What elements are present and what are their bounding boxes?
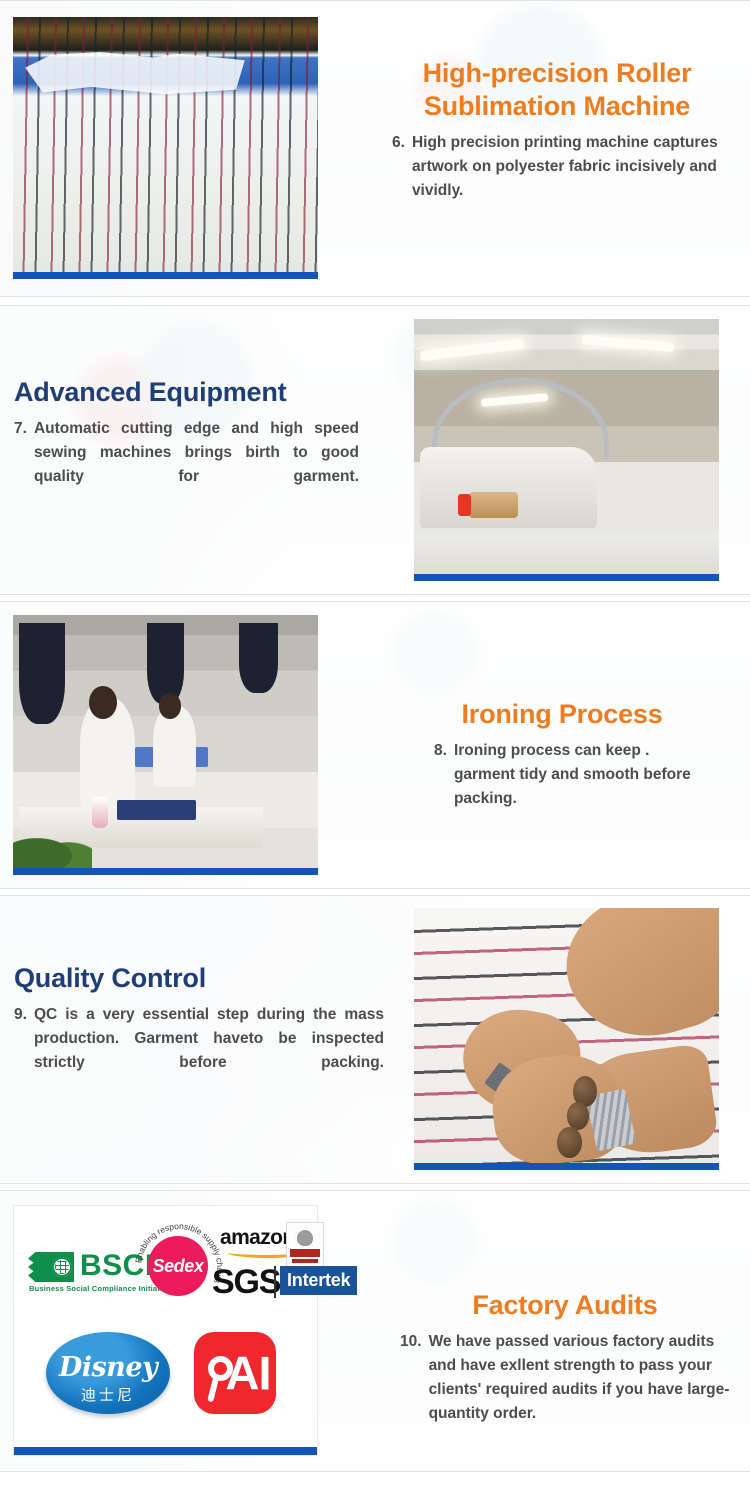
- photo-frame: [13, 615, 318, 868]
- photo-frame: [414, 908, 719, 1163]
- text-block-roller-sublimation: High-precision Roller Sublimation Machin…: [392, 57, 722, 203]
- section-title: Advanced Equipment: [14, 376, 359, 409]
- photo-hanging-garment: [239, 623, 279, 694]
- logoboard-blue-rule: [14, 1447, 317, 1455]
- globe-icon: [52, 1257, 72, 1277]
- page-root: High-precision Roller Sublimation Machin…: [0, 0, 750, 1489]
- photo-ironing-floor: [13, 615, 318, 875]
- sedex-circle: Sedex: [148, 1236, 208, 1296]
- photo-frame: [414, 319, 719, 574]
- text-block-ironing-process: Ironing Process 8. Ironing process can k…: [412, 698, 712, 811]
- photo-frame: [13, 17, 318, 272]
- ai-square: AI: [194, 1332, 276, 1414]
- photo-blue-rule: [414, 1163, 719, 1170]
- section-description: 8. Ironing process can keep . garment ti…: [412, 739, 712, 811]
- sgs-wordmark: SGS: [212, 1264, 280, 1300]
- list-text: High precision printing machine captures…: [412, 131, 722, 203]
- photo-thread-cone: [92, 797, 107, 827]
- section-description: 10. We have passed various factory audit…: [400, 1330, 730, 1426]
- photo-plant: [13, 828, 92, 868]
- section-title: Quality Control: [14, 962, 384, 995]
- list-text: Ironing process can keep . garment tidy …: [454, 739, 712, 811]
- list-number: 10.: [400, 1330, 429, 1426]
- list-number: 9.: [14, 1003, 34, 1099]
- disney-wordmark: Disney: [46, 1352, 170, 1383]
- section-roller-sublimation: High-precision Roller Sublimation Machin…: [0, 0, 750, 297]
- list-number: 6.: [392, 131, 412, 203]
- seal-band: [290, 1249, 320, 1257]
- disney-logo: Disney 迪士尼: [46, 1332, 170, 1414]
- photo-thread-spool: [469, 492, 518, 518]
- certification-logo-board: BSCI Business Social Compliance Initiati…: [13, 1205, 318, 1456]
- text-block-quality-control: Quality Control 9. QC is a very essentia…: [14, 962, 384, 1099]
- section-description: 9. QC is a very essential step during th…: [14, 1003, 384, 1099]
- section-title: Ironing Process: [412, 698, 712, 731]
- section-description: 6. High precision printing machine captu…: [392, 131, 722, 203]
- photo-folded-garment: [117, 800, 196, 820]
- disney-wordmark-cn: 迪士尼: [46, 1384, 170, 1405]
- photo-worker-head: [89, 686, 116, 719]
- section-title: High-precision Roller Sublimation Machin…: [392, 57, 722, 123]
- seal-band: [292, 1259, 318, 1263]
- list-number: 8.: [434, 739, 454, 811]
- crest-icon: [295, 1228, 315, 1248]
- list-text: We have passed various factory audits an…: [429, 1330, 730, 1426]
- list-number: 7.: [14, 417, 34, 513]
- photo-blue-rule: [13, 868, 318, 875]
- photo-worker: [153, 706, 196, 787]
- photo-print-artwork: [25, 50, 245, 96]
- photo-hanging-garment: [19, 623, 65, 724]
- certification-seal-badge: [286, 1222, 324, 1268]
- section-factory-audits: BSCI Business Social Compliance Initiati…: [0, 1190, 750, 1472]
- ai-logo: AI: [194, 1332, 276, 1414]
- text-block-advanced-equipment: Advanced Equipment 7. Automatic cutting …: [14, 376, 359, 513]
- photo-quality-inspection: [414, 908, 719, 1170]
- photo-blue-rule: [414, 574, 719, 581]
- ai-wordmark: AI: [194, 1350, 276, 1397]
- section-quality-control: Quality Control 9. QC is a very essentia…: [0, 895, 750, 1184]
- list-text: QC is a very essential step during the m…: [34, 1003, 384, 1099]
- divider: [274, 1266, 276, 1298]
- photo-lamp: [582, 335, 674, 352]
- section-ironing-process: Ironing Process 8. Ironing process can k…: [0, 601, 750, 889]
- text-block-factory-audits: Factory Audits 10. We have passed variou…: [400, 1289, 730, 1426]
- photo-worktable: [414, 533, 719, 574]
- photo-bead: [557, 1127, 581, 1158]
- photo-bead: [567, 1102, 590, 1130]
- intertek-wordmark: Intertek: [280, 1266, 357, 1295]
- photo-blue-rule: [13, 272, 318, 279]
- photo-hanging-garment: [147, 623, 184, 704]
- bsci-logo: BSCI Business Social Compliance Initiati…: [28, 1250, 148, 1296]
- photo-roller-sublimation: [13, 17, 318, 279]
- photo-sewing-machine: [414, 319, 719, 581]
- list-text: Automatic cutting edge and high speed se…: [34, 417, 359, 513]
- sedex-wordmark: Sedex: [152, 1256, 203, 1277]
- photo-lamp: [420, 338, 524, 361]
- sgs-intertek-logo: SGS Intertek: [212, 1264, 316, 1302]
- magnifier-icon: [208, 1356, 233, 1381]
- photo-arm: [550, 908, 719, 1055]
- section-title: Factory Audits: [400, 1289, 730, 1322]
- section-advanced-equipment: Advanced Equipment 7. Automatic cutting …: [0, 305, 750, 595]
- section-description: 7. Automatic cutting edge and high speed…: [14, 417, 359, 513]
- photo-worker-head: [159, 693, 180, 718]
